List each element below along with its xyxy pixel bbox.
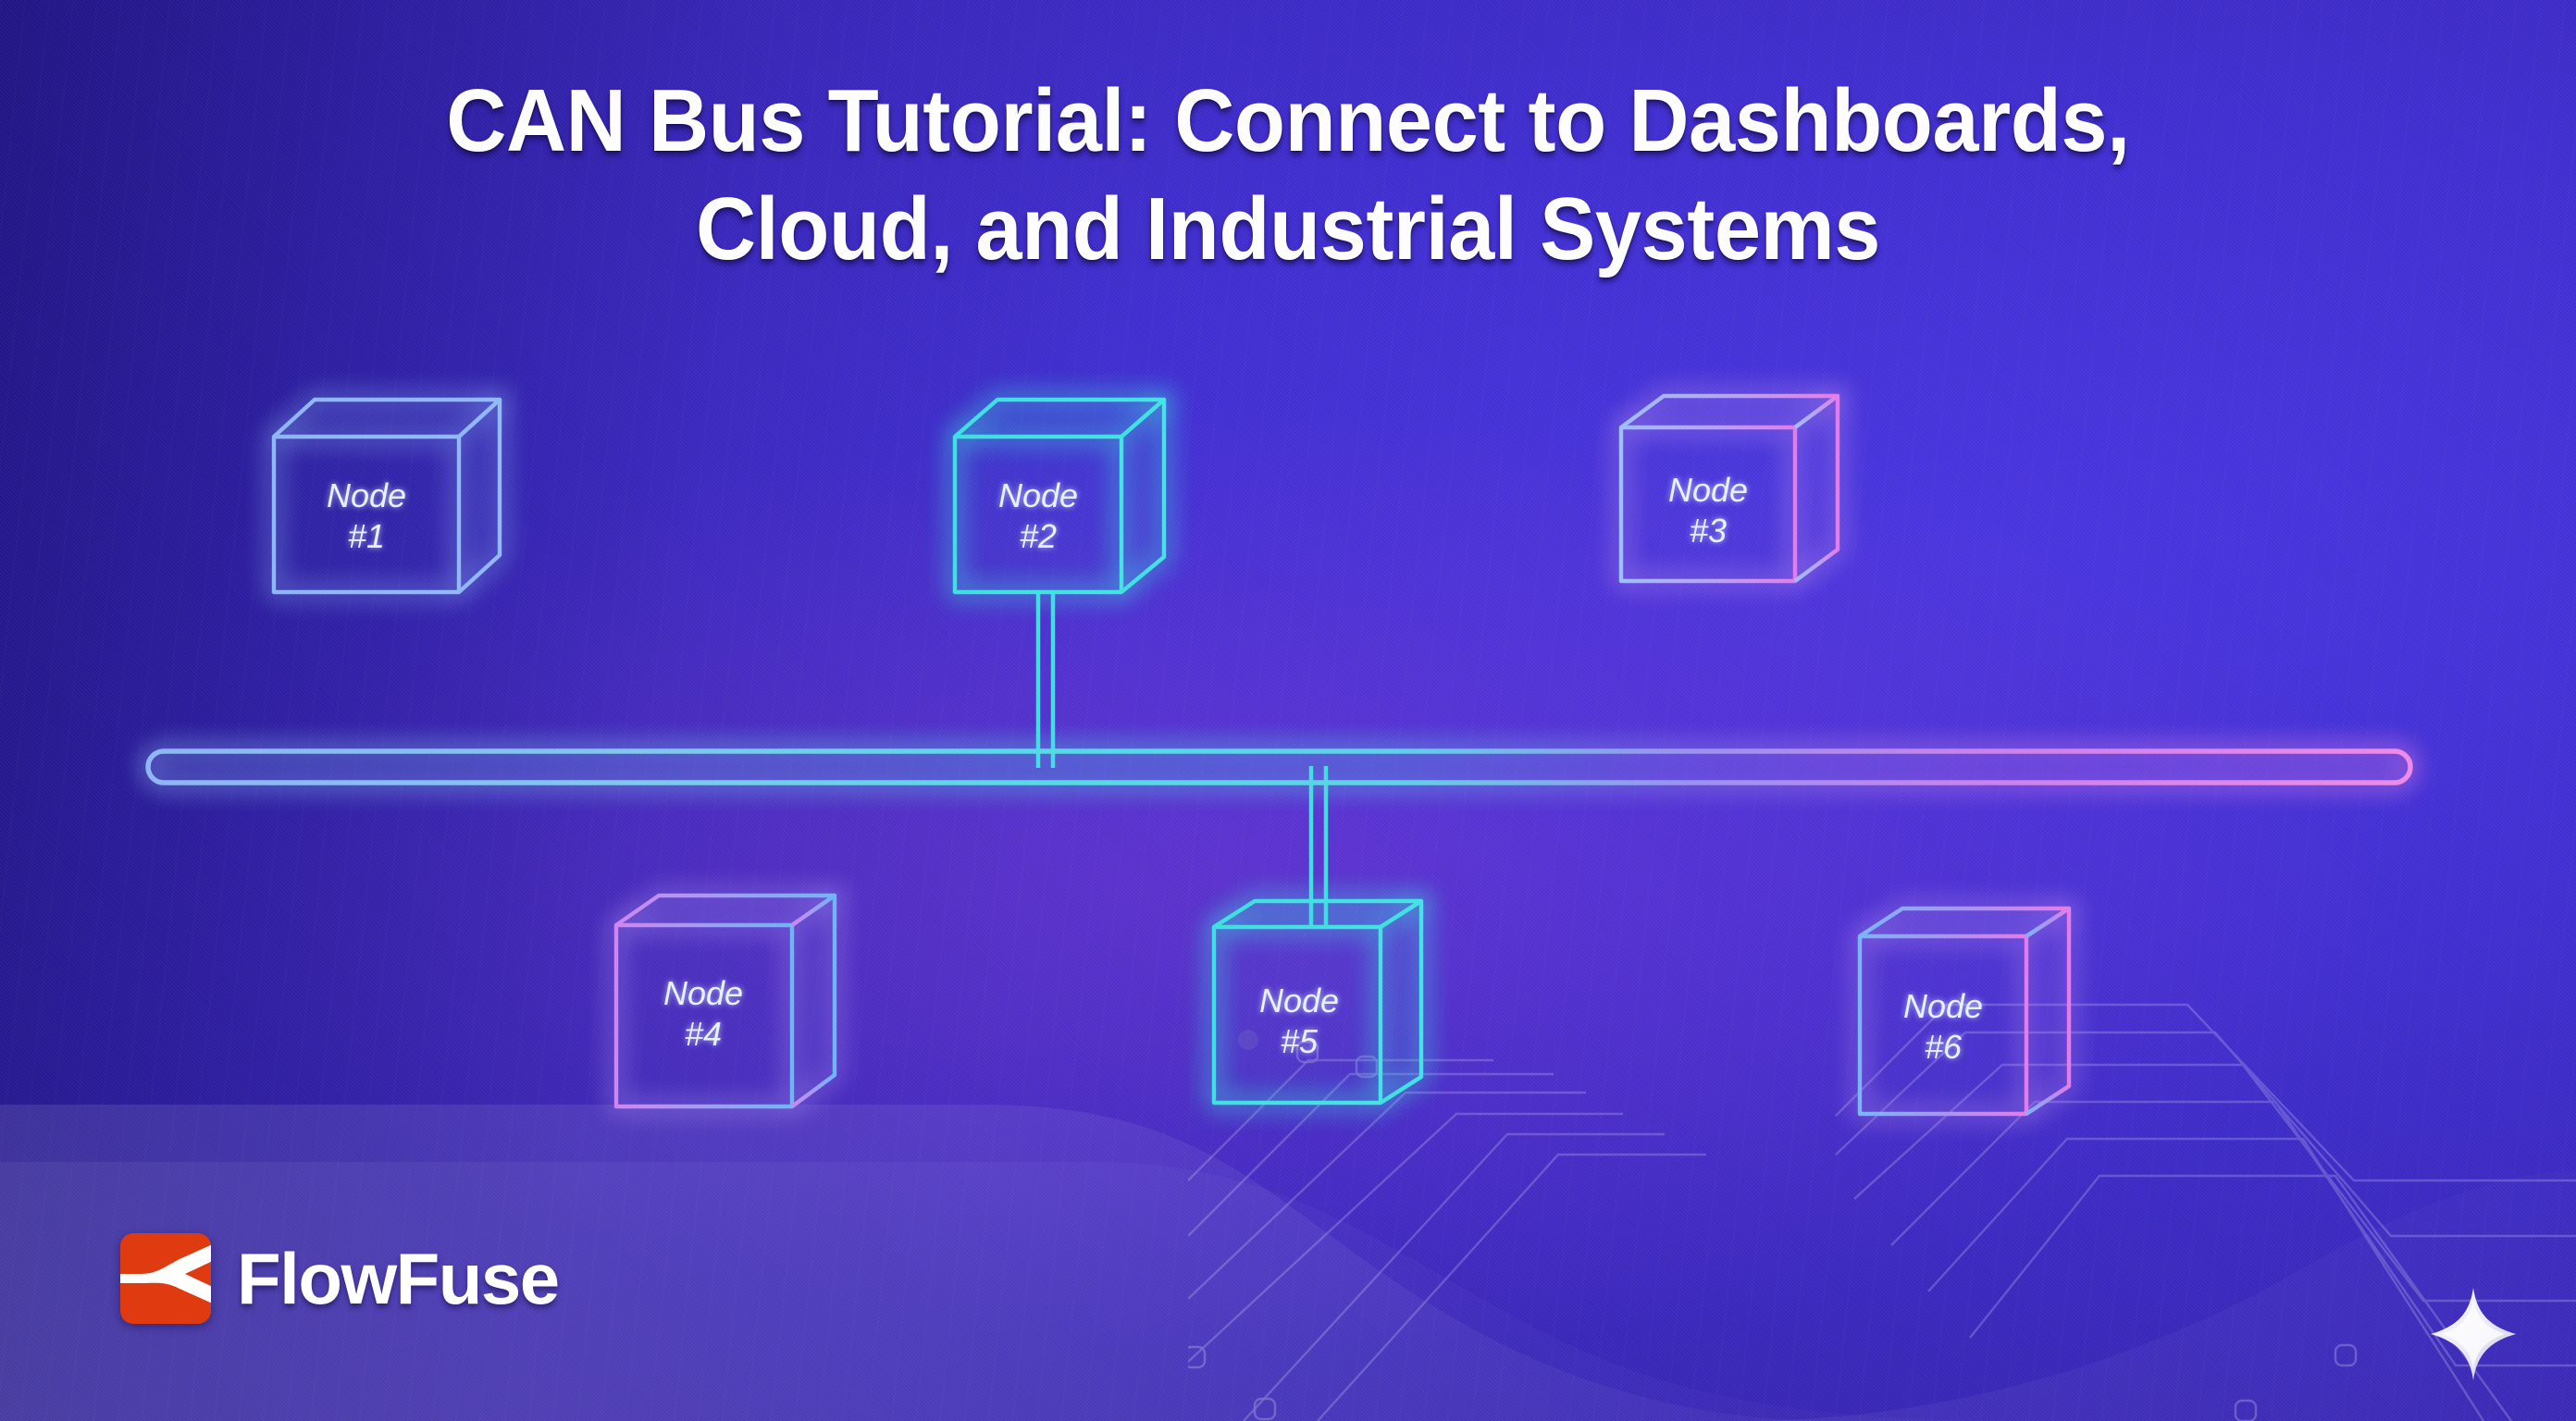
can-bus-diagram: Node #1 Node #1 Node #2 Node #2 [0, 0, 2576, 1421]
flowfuse-wordmark: FlowFuse [237, 1237, 559, 1321]
node-2-label: Node [998, 476, 1078, 514]
node-3-sublabel: #3 [1690, 512, 1727, 550]
node-1-label: Node [327, 476, 406, 514]
node-2: Node #2 Node #2 [955, 400, 1164, 592]
node-6: Node #6 Node #6 [1860, 908, 2069, 1114]
can-bus-line [148, 751, 2410, 783]
sparkle-icon [2429, 1286, 2518, 1382]
banner-canvas: CAN Bus Tutorial: Connect to Dashboards,… [0, 0, 2576, 1421]
node-1: Node #1 Node #1 [274, 400, 500, 592]
node-4-label: Node [663, 974, 743, 1012]
node-6-sublabel: #6 [1925, 1028, 1963, 1066]
node-4: Node #4 Node #4 [616, 896, 835, 1106]
node-2-sublabel: #2 [1020, 517, 1057, 555]
node-5: Node #5 Node #5 [1214, 901, 1421, 1103]
fuse-merge-icon [120, 1233, 211, 1324]
node-6-label: Node [1903, 987, 1983, 1025]
node-4-sublabel: #4 [685, 1015, 722, 1053]
node-5-sublabel: #5 [1281, 1022, 1319, 1060]
node-3: Node #3 Node #3 [1621, 396, 1838, 581]
node-1-sublabel: #1 [348, 517, 385, 555]
node-3-label: Node [1668, 471, 1748, 509]
node-5-label: Node [1259, 982, 1339, 1019]
flowfuse-logo-mark [120, 1233, 211, 1324]
flowfuse-logo[interactable]: FlowFuse [120, 1233, 559, 1324]
